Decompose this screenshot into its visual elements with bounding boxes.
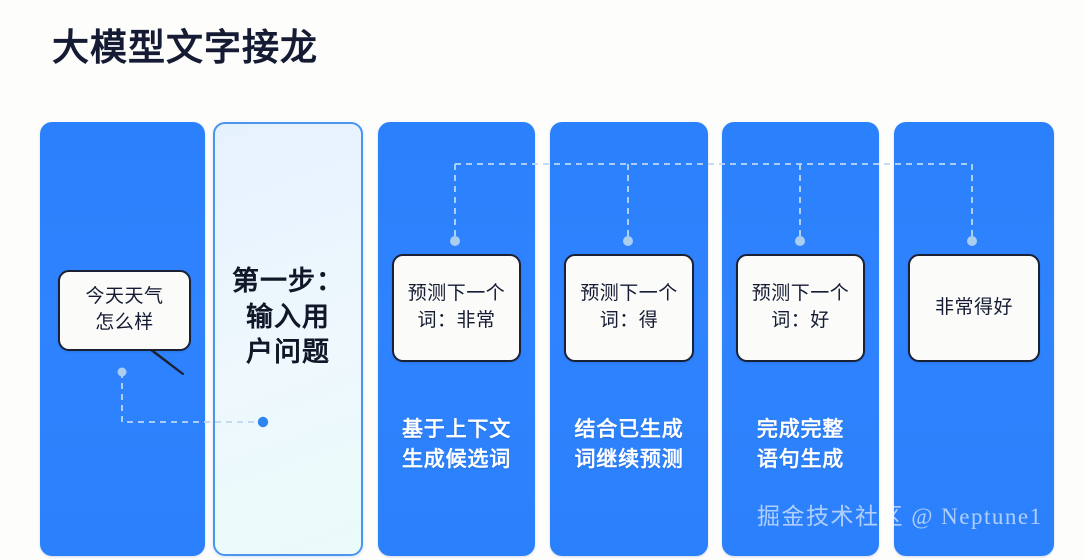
prediction-box-1: 预测下一个 词：非常	[392, 254, 521, 362]
card-caption-2-line-1: 结合已生成	[550, 415, 708, 445]
card-predict-1: 预测下一个 词：非常 基于上下文 生成候选词	[378, 122, 535, 556]
card-caption-1-line-1: 基于上下文	[378, 415, 535, 445]
prediction-box-3: 预测下一个 词：好	[736, 254, 865, 362]
step-one-label: 第一步： 输入用 户问题	[215, 264, 361, 371]
card-final-output: 非常得好	[894, 122, 1054, 556]
card-caption-1-line-2: 生成候选词	[378, 445, 535, 475]
speech-bubble-line-2: 怎么样	[68, 310, 181, 336]
prediction-box-2-line-1: 预测下一个	[580, 281, 678, 308]
prediction-box-1-line-2: 词：非常	[408, 308, 506, 335]
card-predict-2: 预测下一个 词：得 结合已生成 词继续预测	[550, 122, 708, 556]
final-output-box: 非常得好	[908, 254, 1040, 362]
prediction-box-2: 预测下一个 词：得	[564, 254, 694, 362]
prediction-box-3-line-2: 词：好	[752, 308, 850, 335]
card-predict-3: 预测下一个 词：好 完成完整 语句生成	[722, 122, 879, 556]
speech-bubble-line-1: 今天天气	[68, 284, 181, 310]
flow-card-row: 今天天气 怎么样 第一步： 输入用 户问题 预测下一个 词：非常 基于上下文 生…	[0, 0, 1085, 560]
card-caption-2: 结合已生成 词继续预测	[550, 415, 708, 475]
step-one-line-2: 输入用	[215, 300, 361, 336]
card-caption-3-line-1: 完成完整	[722, 415, 879, 445]
prediction-box-2-line-2: 词：得	[580, 308, 678, 335]
speech-bubble-wrapper: 今天天气 怎么样	[58, 270, 191, 351]
card-caption-3-line-2: 语句生成	[722, 445, 879, 475]
speech-bubble-tail-icon	[145, 347, 185, 375]
card-caption-3: 完成完整 语句生成	[722, 415, 879, 475]
watermark: 掘金技术社区 @ Neptune1	[757, 497, 1043, 531]
prediction-box-3-line-1: 预测下一个	[752, 281, 850, 308]
prediction-box-1-line-1: 预测下一个	[408, 281, 506, 308]
card-user-question: 今天天气 怎么样	[40, 122, 205, 556]
card-caption-1: 基于上下文 生成候选词	[378, 415, 535, 475]
step-one-line-3: 户问题	[215, 335, 361, 371]
step-one-line-1: 第一步：	[215, 264, 361, 300]
card-step-one: 第一步： 输入用 户问题	[213, 122, 363, 556]
final-output-text: 非常得好	[935, 295, 1013, 322]
speech-bubble: 今天天气 怎么样	[58, 270, 191, 351]
card-caption-2-line-2: 词继续预测	[550, 445, 708, 475]
